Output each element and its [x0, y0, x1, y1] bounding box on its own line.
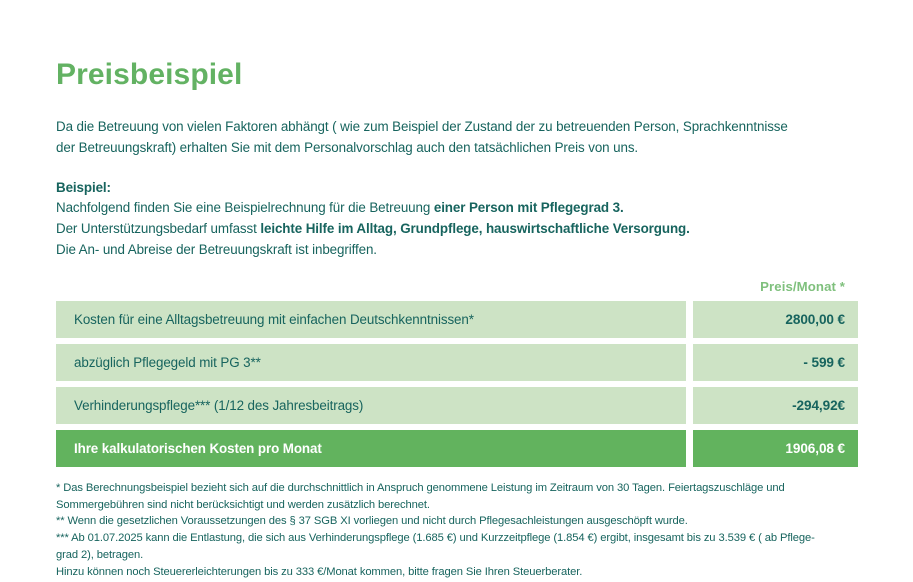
- table-row: Kosten für eine Alltagsbetreuung mit ein…: [56, 301, 858, 338]
- page-title: Preisbeispiel: [56, 0, 858, 91]
- footnote-line-4: *** Ab 01.07.2025 kann die Entlastung, d…: [56, 531, 858, 547]
- example-line-2-prefix: Der Unterstützungsbedarf umfasst: [56, 221, 260, 236]
- table-row-total: Ihre kalkulatorischen Kosten pro Monat 1…: [56, 430, 858, 467]
- intro-line-1: Da die Betreuung von vielen Faktoren abh…: [56, 119, 788, 134]
- price-table-header: Preis/Monat *: [56, 279, 858, 301]
- price-table: Preis/Monat * Kosten für eine Alltagsbet…: [56, 279, 858, 467]
- table-row-label: Verhinderungspflege*** (1/12 des Jahresb…: [56, 387, 686, 424]
- footnote-line-1: * Das Berechnungsbeispiel bezieht sich a…: [56, 481, 858, 497]
- example-line-1-bold: einer Person mit Pflegegrad 3.: [434, 200, 624, 215]
- footnote-line-3: ** Wenn die gesetzlichen Voraussetzungen…: [56, 514, 858, 530]
- table-row-total-price: 1906,08 €: [693, 430, 858, 467]
- example-line-3: Die An- und Abreise der Betreuungskraft …: [56, 242, 377, 257]
- content-wrapper: Preisbeispiel Da die Betreuung von viele…: [56, 0, 858, 582]
- footnote-line-2: Sommergebühren sind nicht berücksichtigt…: [56, 498, 858, 514]
- footnote-line-5: grad 2), betragen.: [56, 548, 858, 564]
- table-row-total-label: Ihre kalkulatorischen Kosten pro Monat: [56, 430, 686, 467]
- price-example-page: Preisbeispiel Da die Betreuung von viele…: [0, 0, 913, 579]
- intro-line-2: der Betreuungskraft) erhalten Sie mit de…: [56, 140, 638, 155]
- example-paragraph: Beispiel: Nachfolgend finden Sie eine Be…: [56, 159, 858, 261]
- example-line-2-bold: leichte Hilfe im Alltag, Grundpflege, ha…: [260, 221, 689, 236]
- example-heading: Beispiel:: [56, 180, 111, 195]
- table-row: abzüglich Pflegegeld mit PG 3** - 599 €: [56, 344, 858, 381]
- table-row-price: 2800,00 €: [693, 301, 858, 338]
- table-row-price: - 599 €: [693, 344, 858, 381]
- table-row-label: Kosten für eine Alltagsbetreuung mit ein…: [56, 301, 686, 338]
- price-column-header: Preis/Monat *: [693, 279, 858, 294]
- table-row: Verhinderungspflege*** (1/12 des Jahresb…: [56, 387, 858, 424]
- intro-paragraph: Da die Betreuung von vielen Faktoren abh…: [56, 91, 858, 159]
- table-row-label: abzüglich Pflegegeld mit PG 3**: [56, 344, 686, 381]
- footnotes-block: * Das Berechnungsbeispiel bezieht sich a…: [56, 481, 858, 581]
- table-row-price: -294,92€: [693, 387, 858, 424]
- example-line-1-prefix: Nachfolgend finden Sie eine Beispielrech…: [56, 200, 434, 215]
